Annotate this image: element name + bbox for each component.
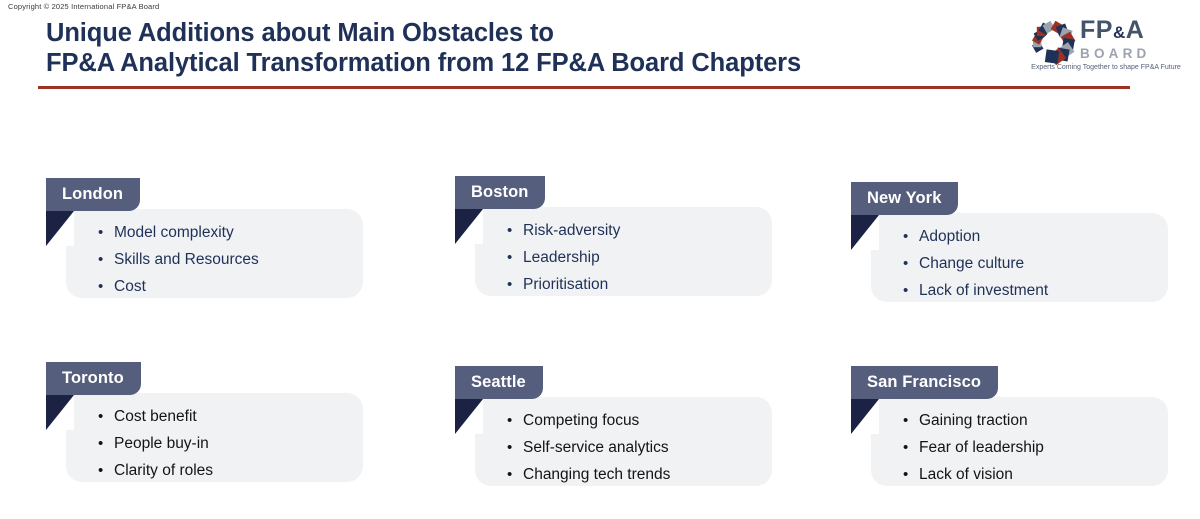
card-fold-ribbon (46, 395, 74, 430)
card-header-tab: Toronto (46, 362, 141, 395)
list-item: Lack of investment (903, 277, 1048, 304)
page-title-line-1: Unique Additions about Main Obstacles to (46, 18, 926, 48)
list-item: Model complexity (98, 219, 259, 246)
title-divider-rule (38, 86, 1130, 89)
card-bullet-list: Risk-adversity Leadership Prioritisation (507, 217, 620, 298)
list-item: Clarity of roles (98, 457, 213, 484)
card-bullet-list: Competing focus Self-service analytics C… (507, 407, 670, 488)
card-bullet-list: Model complexity Skills and Resources Co… (98, 219, 259, 300)
card-title: London (62, 186, 123, 203)
card-fold-ribbon (455, 209, 483, 244)
card-fold-ribbon (851, 399, 879, 434)
page-title: Unique Additions about Main Obstacles to… (46, 18, 926, 78)
card-title: Boston (471, 184, 528, 201)
card-bullet-list: Adoption Change culture Lack of investme… (903, 223, 1048, 304)
list-item: Self-service analytics (507, 434, 670, 461)
list-item: Gaining traction (903, 407, 1044, 434)
card-bullet-list: Gaining traction Fear of leadership Lack… (903, 407, 1044, 488)
list-item: Skills and Resources (98, 246, 259, 273)
list-item: Fear of leadership (903, 434, 1044, 461)
card-header-tab: Seattle (455, 366, 543, 399)
list-item: Adoption (903, 223, 1048, 250)
card-title: Seattle (471, 374, 526, 391)
card-bullet-list: Cost benefit People buy-in Clarity of ro… (98, 403, 213, 484)
list-item: Leadership (507, 244, 620, 271)
list-item: Cost benefit (98, 403, 213, 430)
logo-wordmark-fpa: FP&A (1080, 18, 1192, 45)
logo-tagline: Experts Coming Together to shape FP&A Fu… (1022, 64, 1190, 71)
list-item: Risk-adversity (507, 217, 620, 244)
card-header-tab: San Francisco (851, 366, 998, 399)
logo-wordmark-board: BOARD (1080, 46, 1192, 61)
copyright-notice: Copyright © 2025 International FP&A Boar… (8, 2, 159, 11)
card-title: Toronto (62, 370, 124, 387)
card-header-tab: New York (851, 182, 958, 215)
card-fold-ribbon (851, 215, 879, 250)
list-item: Lack of vision (903, 461, 1044, 488)
list-item: Competing focus (507, 407, 670, 434)
list-item: Cost (98, 273, 259, 300)
fpa-board-logo: FP&A BOARD Experts Coming Together to sh… (1022, 14, 1190, 82)
card-header-tab: Boston (455, 176, 545, 209)
list-item: People buy-in (98, 430, 213, 457)
card-header-tab: London (46, 178, 140, 211)
card-title: New York (867, 190, 941, 207)
list-item: Prioritisation (507, 271, 620, 298)
card-fold-ribbon (455, 399, 483, 434)
list-item: Changing tech trends (507, 461, 670, 488)
list-item: Change culture (903, 250, 1048, 277)
card-fold-ribbon (46, 211, 74, 246)
logo-wordmark: FP&A BOARD (1080, 18, 1192, 61)
page-title-line-2: FP&A Analytical Transformation from 12 F… (46, 48, 926, 78)
slide-canvas: Copyright © 2025 International FP&A Boar… (0, 0, 1200, 519)
card-title: San Francisco (867, 374, 981, 391)
